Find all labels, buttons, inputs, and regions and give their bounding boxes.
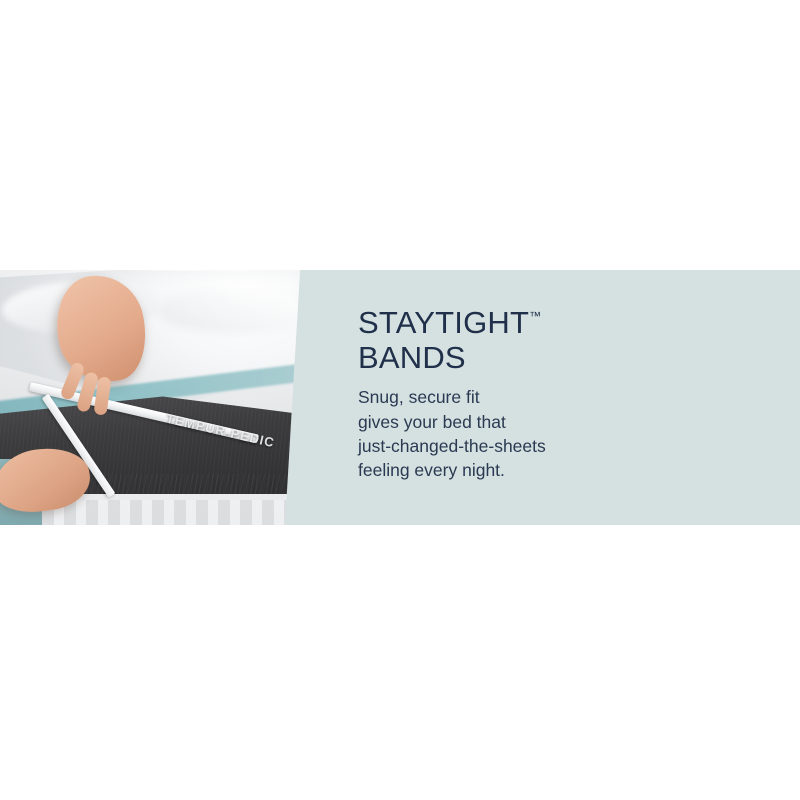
- trademark-icon: ™: [529, 309, 541, 323]
- banner-body-text: Snug, secure fitgives your bed thatjust-…: [358, 385, 608, 482]
- page-root: TEMPUR-PEDIC STAYTIGHT™BANDS Snug, secur…: [0, 0, 800, 800]
- banner-heading-line1: STAYTIGHT: [358, 305, 529, 340]
- banner-heading: STAYTIGHT™BANDS: [358, 306, 608, 375]
- banner-heading-line2: BANDS: [358, 340, 466, 375]
- photo-inner: TEMPUR-PEDIC: [0, 270, 300, 525]
- photo-sheet-fold-right: [157, 290, 300, 333]
- body-line-3: just-changed-the-sheets: [358, 436, 546, 456]
- banner-text-block: STAYTIGHT™BANDS Snug, secure fitgives yo…: [358, 306, 608, 482]
- body-line-1: Snug, secure fit: [358, 387, 480, 407]
- staytight-bands-banner: TEMPUR-PEDIC STAYTIGHT™BANDS Snug, secur…: [0, 270, 800, 525]
- body-line-2: gives your bed that: [358, 412, 506, 432]
- mattress-protector-photo: TEMPUR-PEDIC: [0, 270, 300, 525]
- body-line-4: feeling every night.: [358, 460, 505, 480]
